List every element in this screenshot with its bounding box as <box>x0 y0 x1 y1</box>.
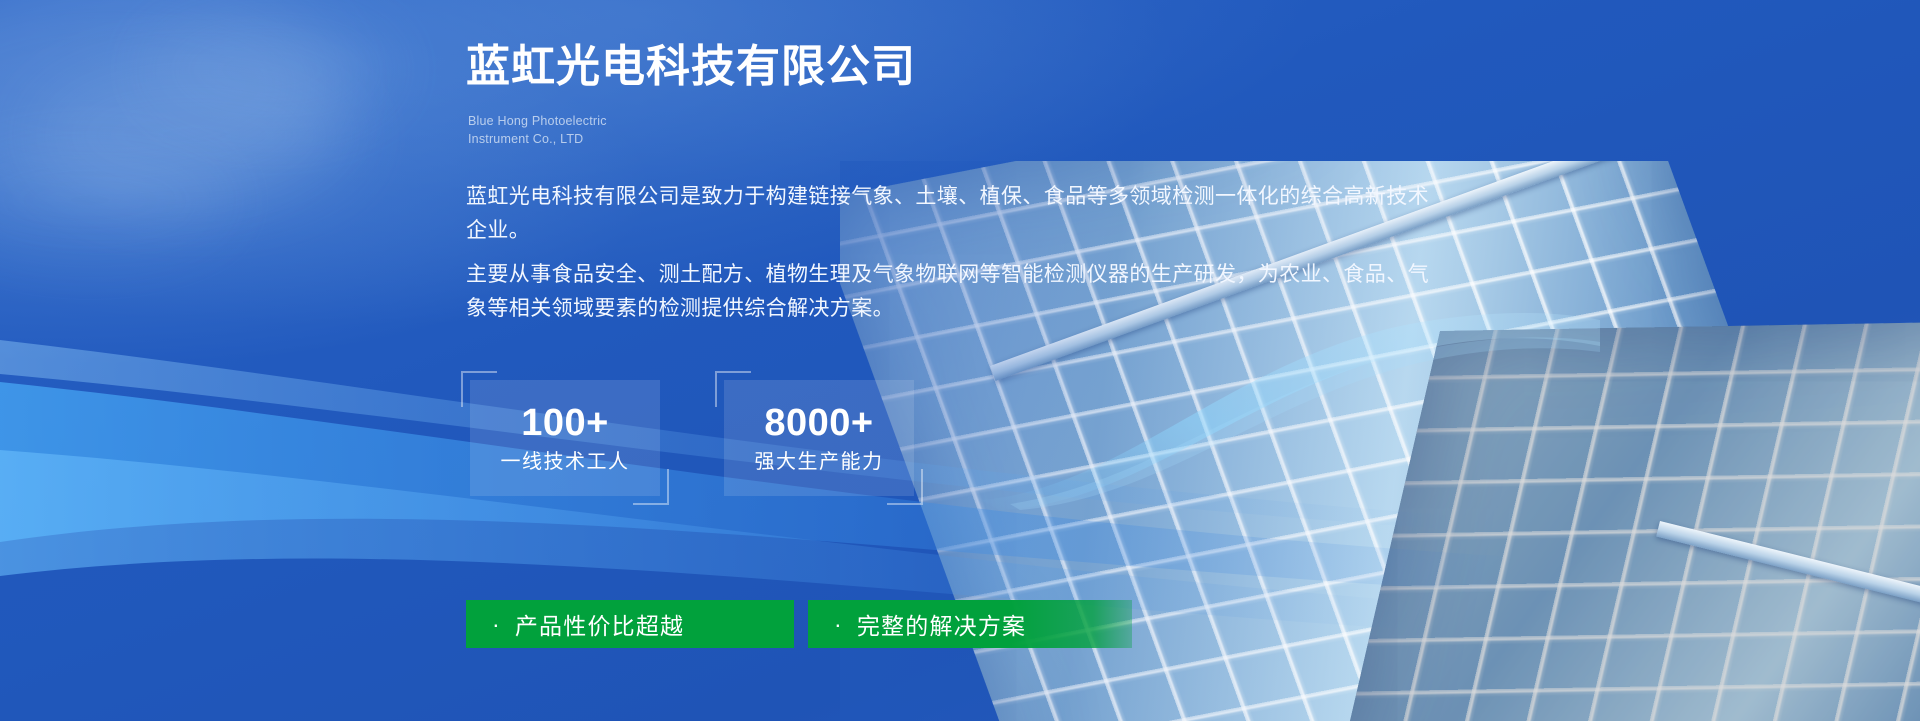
feature-tag-label: 完整的解决方案 <box>857 607 1026 641</box>
stat-card: 100+ 一线技术工人 <box>470 380 660 496</box>
stat-number: 100+ <box>521 404 609 442</box>
feature-tag[interactable]: · 产品性价比超越 <box>466 600 794 648</box>
stat-label: 强大生产能力 <box>755 452 884 472</box>
description-paragraph-1: 蓝虹光电科技有限公司是致力于构建链接气象、土壤、植保、食品等多领域检测一体化的综… <box>466 180 1446 248</box>
feature-tags-group: · 产品性价比超越 · 完整的解决方案 <box>466 600 1132 648</box>
company-name-english-line1: Blue Hong Photoelectric <box>468 112 607 130</box>
description-paragraph-2: 主要从事食品安全、测土配方、植物生理及气象物联网等智能检测仪器的生产研发，为农业… <box>466 258 1446 326</box>
bullet-dot-icon: · <box>492 613 501 636</box>
company-name-english-line2: Instrument Co., LTD <box>468 130 607 148</box>
stat-card: 8000+ 强大生产能力 <box>724 380 914 496</box>
stat-number: 8000+ <box>764 404 873 442</box>
stat-label: 一线技术工人 <box>501 452 630 472</box>
bullet-dot-icon: · <box>834 613 843 636</box>
company-name-english: Blue Hong Photoelectric Instrument Co., … <box>468 112 607 148</box>
page-title: 蓝虹光电科技有限公司 <box>466 42 916 93</box>
hero-content: 蓝虹光电科技有限公司 Blue Hong Photoelectric Instr… <box>466 0 1466 721</box>
feature-tag-label: 产品性价比超越 <box>515 607 684 641</box>
feature-tag[interactable]: · 完整的解决方案 <box>808 600 1132 648</box>
stats-group: 100+ 一线技术工人 8000+ 强大生产能力 <box>470 380 914 496</box>
hero-banner: 蓝虹光电科技有限公司 Blue Hong Photoelectric Instr… <box>0 0 1920 721</box>
